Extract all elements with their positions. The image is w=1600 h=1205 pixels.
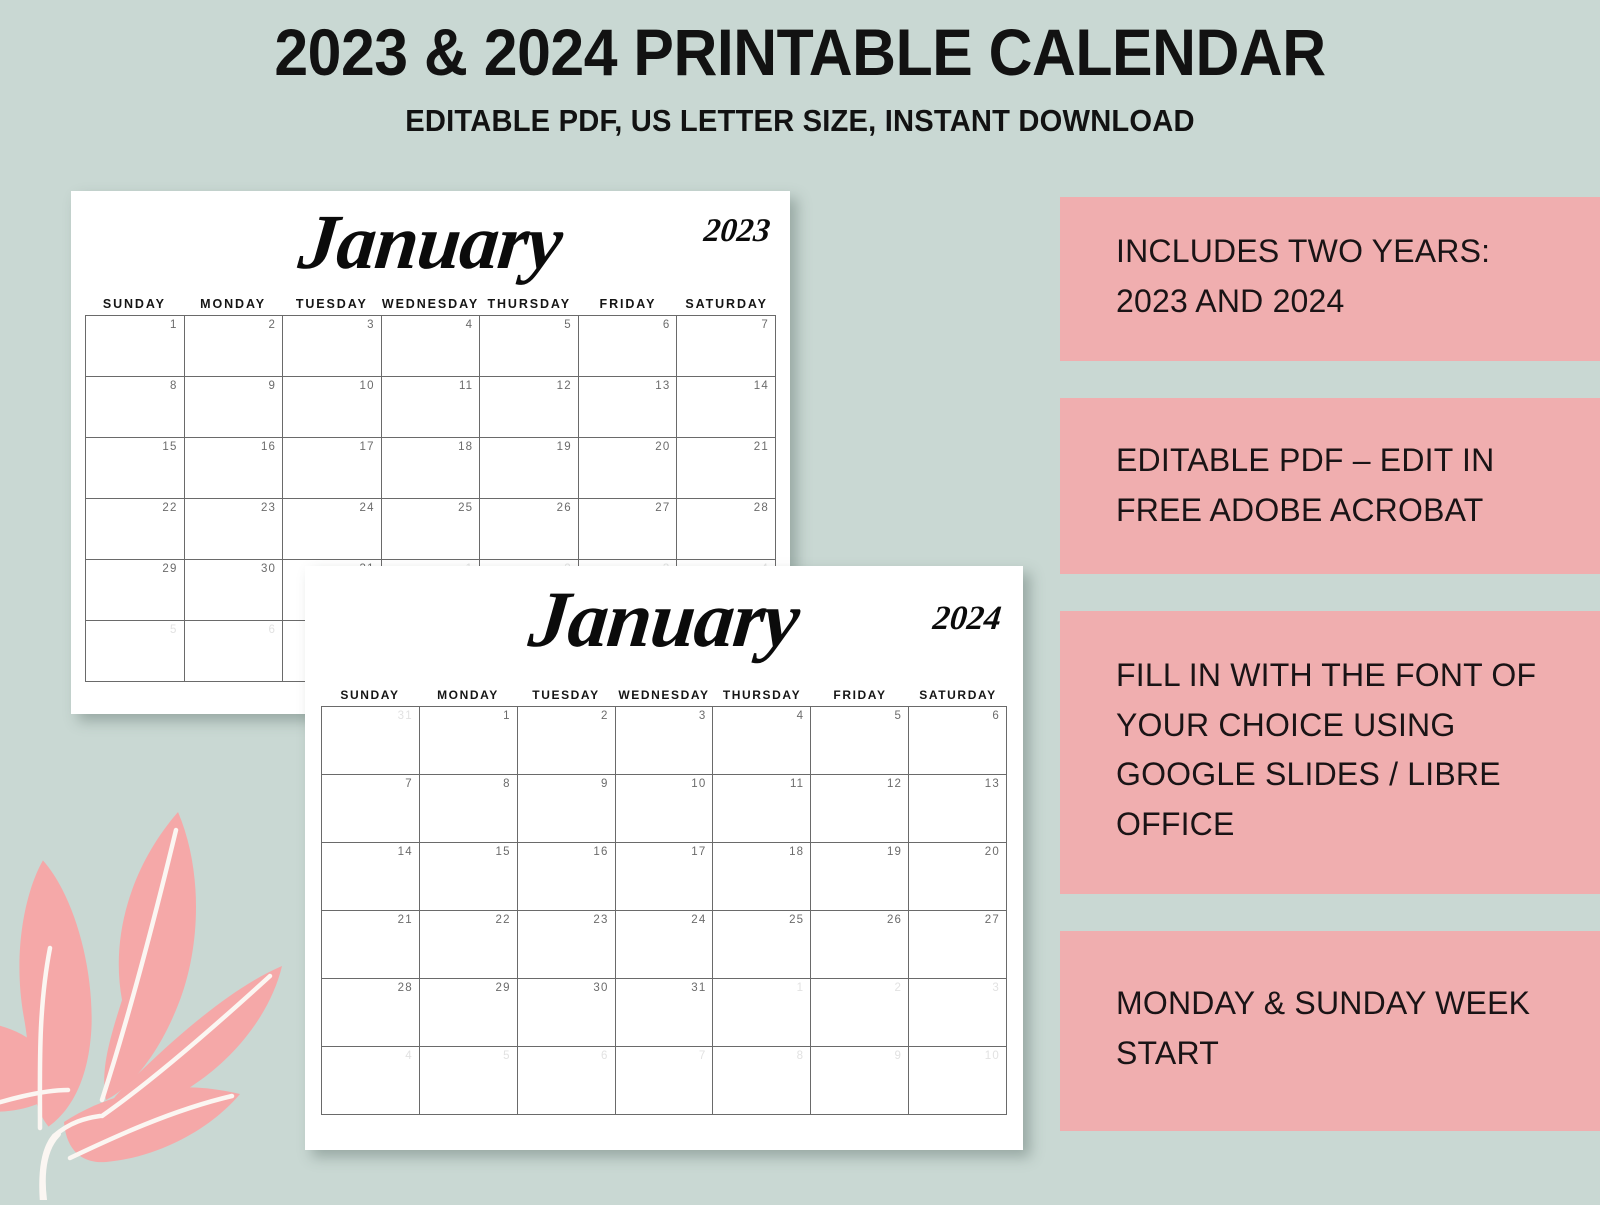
day-number: 7 — [405, 778, 413, 790]
day-number: 2 — [601, 710, 609, 722]
day-number: 3 — [367, 319, 375, 331]
day-number: 18 — [458, 441, 473, 453]
day-number: 9 — [895, 1050, 903, 1062]
calendar-day-cell[interactable]: 13 — [909, 775, 1007, 843]
day-number: 9 — [601, 778, 609, 790]
calendar-day-cell[interactable]: 5 — [480, 316, 579, 377]
calendar-day-cell[interactable]: 14 — [677, 377, 776, 438]
day-number: 13 — [655, 380, 670, 392]
calendar-day-cell[interactable]: 12 — [811, 775, 909, 843]
calendar-day-cell[interactable]: 15 — [86, 438, 185, 499]
feature-text: EDITABLE PDF – EDIT IN FREE ADOBE ACROBA… — [1116, 436, 1544, 536]
calendar-day-cell[interactable]: 8 — [420, 775, 518, 843]
day-number: 5 — [503, 1050, 511, 1062]
day-number: 5 — [564, 319, 572, 331]
day-number: 19 — [557, 441, 572, 453]
page-subtitle: EDITABLE PDF, US LETTER SIZE, INSTANT DO… — [48, 89, 1552, 139]
calendar-day-cell[interactable]: 26 — [480, 499, 579, 560]
calendar-day-cell[interactable]: 31 — [616, 979, 714, 1047]
calendar-day-cell[interactable]: 29 — [420, 979, 518, 1047]
day-number: 5 — [895, 710, 903, 722]
calendar-day-cell[interactable]: 23 — [518, 911, 616, 979]
weekday-header: THURSDAY — [480, 297, 579, 311]
feature-text: FILL IN WITH THE FONT OF YOUR CHOICE USI… — [1116, 651, 1544, 851]
calendar-day-cell[interactable]: 1 — [713, 979, 811, 1047]
day-number: 11 — [459, 380, 473, 392]
day-number: 10 — [985, 1050, 1000, 1062]
day-number: 16 — [593, 846, 608, 858]
day-number: 26 — [887, 914, 902, 926]
day-number: 15 — [496, 846, 511, 858]
day-number: 11 — [790, 778, 804, 790]
calendar-day-cell[interactable]: 18 — [713, 843, 811, 911]
day-number: 2 — [269, 319, 277, 331]
calendar-day-cell[interactable]: 25 — [382, 499, 481, 560]
calendar-month-label: January — [317, 580, 1011, 660]
day-number: 9 — [269, 380, 277, 392]
calendar-day-cell[interactable]: 18 — [382, 438, 481, 499]
calendar-day-cell[interactable]: 2 — [185, 316, 284, 377]
weekday-header-row: SUNDAYMONDAYTUESDAYWEDNESDAYTHURSDAYFRID… — [321, 688, 1007, 706]
calendar-day-cell[interactable]: 9 — [811, 1047, 909, 1115]
day-number: 8 — [503, 778, 511, 790]
page-title: 2023 & 2024 PRINTABLE CALENDAR — [64, 0, 1536, 89]
calendar-day-cell[interactable]: 28 — [677, 499, 776, 560]
calendar-grid: 3112345678910111213141516171819202122232… — [321, 706, 1007, 1115]
day-number: 25 — [458, 502, 473, 514]
day-number: 14 — [398, 846, 413, 858]
day-number: 6 — [663, 319, 671, 331]
calendar-header: January2023 — [85, 201, 776, 297]
weekday-header: SATURDAY — [909, 688, 1007, 702]
day-number: 3 — [992, 982, 1000, 994]
calendar-day-cell[interactable]: 19 — [811, 843, 909, 911]
day-number: 21 — [754, 441, 769, 453]
calendar-day-cell[interactable]: 20 — [909, 843, 1007, 911]
calendar-day-cell[interactable]: 3 — [909, 979, 1007, 1047]
feature-box: EDITABLE PDF – EDIT IN FREE ADOBE ACROBA… — [1060, 398, 1600, 574]
day-number: 8 — [170, 380, 178, 392]
calendar-day-cell[interactable]: 16 — [518, 843, 616, 911]
calendar-day-cell[interactable]: 19 — [480, 438, 579, 499]
day-number: 10 — [360, 380, 375, 392]
day-number: 23 — [593, 914, 608, 926]
day-number: 13 — [985, 778, 1000, 790]
calendar-day-cell[interactable]: 13 — [579, 377, 678, 438]
weekday-header: TUESDAY — [517, 688, 615, 702]
day-number: 4 — [797, 710, 805, 722]
weekday-header: FRIDAY — [579, 297, 678, 311]
day-number: 19 — [887, 846, 902, 858]
page-header: 2023 & 2024 PRINTABLE CALENDAR EDITABLE … — [0, 0, 1600, 139]
day-number: 29 — [496, 982, 511, 994]
day-number: 30 — [261, 563, 276, 575]
day-number: 1 — [797, 982, 805, 994]
calendar-day-cell[interactable]: 8 — [713, 1047, 811, 1115]
weekday-header: SATURDAY — [677, 297, 776, 311]
calendar-day-cell[interactable]: 28 — [322, 979, 420, 1047]
calendar-day-cell[interactable]: 5 — [420, 1047, 518, 1115]
day-number: 10 — [691, 778, 706, 790]
day-number: 22 — [162, 502, 177, 514]
feature-text: INCLUDES TWO YEARS: 2023 AND 2024 — [1116, 227, 1544, 327]
day-number: 24 — [691, 914, 706, 926]
weekday-header: FRIDAY — [811, 688, 909, 702]
day-number: 26 — [557, 502, 572, 514]
day-number: 20 — [655, 441, 670, 453]
day-number: 1 — [170, 319, 178, 331]
calendar-day-cell[interactable]: 17 — [616, 843, 714, 911]
calendar-day-cell[interactable]: 14 — [322, 843, 420, 911]
calendar-day-cell[interactable]: 30 — [185, 560, 284, 621]
calendar-day-cell[interactable]: 5 — [86, 621, 185, 682]
day-number: 15 — [162, 441, 177, 453]
day-number: 25 — [789, 914, 804, 926]
calendar-day-cell[interactable]: 21 — [677, 438, 776, 499]
calendar-year-label: 2024 — [931, 600, 1003, 638]
day-number: 31 — [398, 710, 413, 722]
feature-box: MONDAY & SUNDAY WEEK START — [1060, 931, 1600, 1131]
day-number: 6 — [992, 710, 1000, 722]
day-number: 7 — [699, 1050, 707, 1062]
calendar-day-cell[interactable]: 17 — [283, 438, 382, 499]
calendar-day-cell[interactable]: 9 — [185, 377, 284, 438]
calendar-day-cell[interactable]: 1 — [420, 707, 518, 775]
day-number: 28 — [398, 982, 413, 994]
day-number: 18 — [789, 846, 804, 858]
weekday-header: TUESDAY — [282, 297, 381, 311]
day-number: 4 — [466, 319, 474, 331]
calendar-day-cell[interactable]: 2 — [518, 707, 616, 775]
weekday-header: SUNDAY — [85, 297, 184, 311]
calendar-day-cell[interactable]: 23 — [185, 499, 284, 560]
day-number: 8 — [797, 1050, 805, 1062]
calendar-day-cell[interactable]: 8 — [86, 377, 185, 438]
day-number: 22 — [496, 914, 511, 926]
day-number: 20 — [985, 846, 1000, 858]
day-number: 14 — [754, 380, 769, 392]
weekday-header: THURSDAY — [713, 688, 811, 702]
calendar-day-cell[interactable]: 3 — [616, 707, 714, 775]
calendar-day-cell[interactable]: 10 — [283, 377, 382, 438]
calendar-day-cell[interactable]: 22 — [86, 499, 185, 560]
calendar-day-cell[interactable]: 25 — [713, 911, 811, 979]
calendar-month-label: January — [81, 203, 780, 281]
day-number: 27 — [655, 502, 670, 514]
day-number: 2 — [895, 982, 903, 994]
weekday-header: WEDNESDAY — [615, 688, 713, 702]
calendar-day-cell[interactable]: 6 — [518, 1047, 616, 1115]
day-number: 12 — [557, 380, 572, 392]
weekday-header: SUNDAY — [321, 688, 419, 702]
day-number: 7 — [761, 319, 769, 331]
calendar-day-cell[interactable]: 6 — [909, 707, 1007, 775]
day-number: 16 — [261, 441, 276, 453]
day-number: 23 — [261, 502, 276, 514]
day-number: 5 — [170, 624, 178, 636]
calendar-day-cell[interactable]: 30 — [518, 979, 616, 1047]
calendar-day-cell[interactable]: 2 — [811, 979, 909, 1047]
calendar-day-cell[interactable]: 27 — [909, 911, 1007, 979]
day-number: 30 — [593, 982, 608, 994]
calendar-day-cell[interactable]: 15 — [420, 843, 518, 911]
day-number: 21 — [398, 914, 413, 926]
calendar-day-cell[interactable]: 22 — [420, 911, 518, 979]
day-number: 6 — [601, 1050, 609, 1062]
day-number: 6 — [269, 624, 277, 636]
calendar-day-cell[interactable]: 7 — [322, 775, 420, 843]
calendar-day-cell[interactable]: 7 — [616, 1047, 714, 1115]
calendar-day-cell[interactable]: 11 — [382, 377, 481, 438]
calendar-day-cell[interactable]: 12 — [480, 377, 579, 438]
day-number: 17 — [691, 846, 706, 858]
calendar-day-cell[interactable]: 20 — [579, 438, 678, 499]
calendar-day-cell[interactable]: 11 — [713, 775, 811, 843]
weekday-header: MONDAY — [184, 297, 283, 311]
calendar-day-cell[interactable]: 10 — [909, 1047, 1007, 1115]
calendar-year-label: 2023 — [702, 213, 772, 250]
day-number: 27 — [985, 914, 1000, 926]
day-number: 4 — [405, 1050, 413, 1062]
day-number: 31 — [691, 982, 706, 994]
leaf-branch-icon — [0, 770, 312, 1200]
calendar-day-cell[interactable]: 29 — [86, 560, 185, 621]
calendar-day-cell[interactable]: 7 — [677, 316, 776, 377]
calendar-day-cell[interactable]: 24 — [283, 499, 382, 560]
weekday-header: WEDNESDAY — [381, 297, 480, 311]
calendar-day-cell[interactable]: 31 — [322, 707, 420, 775]
calendar-day-cell[interactable]: 21 — [322, 911, 420, 979]
calendar-day-cell[interactable]: 27 — [579, 499, 678, 560]
calendar-day-cell[interactable]: 6 — [185, 621, 284, 682]
calendar-day-cell[interactable]: 26 — [811, 911, 909, 979]
day-number: 12 — [887, 778, 902, 790]
day-number: 3 — [699, 710, 707, 722]
day-number: 17 — [360, 441, 375, 453]
feature-list: INCLUDES TWO YEARS: 2023 AND 2024 EDITAB… — [1060, 197, 1600, 1131]
day-number: 29 — [162, 563, 177, 575]
calendar-day-cell[interactable]: 4 — [713, 707, 811, 775]
calendar-day-cell[interactable]: 16 — [185, 438, 284, 499]
calendar-day-cell[interactable]: 5 — [811, 707, 909, 775]
calendar-day-cell[interactable]: 6 — [579, 316, 678, 377]
day-number: 28 — [754, 502, 769, 514]
calendar-day-cell[interactable]: 3 — [283, 316, 382, 377]
calendar-day-cell[interactable]: 4 — [322, 1047, 420, 1115]
calendar-day-cell[interactable]: 4 — [382, 316, 481, 377]
calendar-day-cell[interactable]: 10 — [616, 775, 714, 843]
calendar-day-cell[interactable]: 1 — [86, 316, 185, 377]
calendar-header: January2024 — [321, 578, 1007, 688]
weekday-header: MONDAY — [419, 688, 517, 702]
feature-text: MONDAY & SUNDAY WEEK START — [1116, 979, 1544, 1079]
calendar-page: January2024SUNDAYMONDAYTUESDAYWEDNESDAYT… — [305, 566, 1023, 1150]
calendar-day-cell[interactable]: 24 — [616, 911, 714, 979]
feature-box: FILL IN WITH THE FONT OF YOUR CHOICE USI… — [1060, 611, 1600, 895]
calendar-day-cell[interactable]: 9 — [518, 775, 616, 843]
feature-box: INCLUDES TWO YEARS: 2023 AND 2024 — [1060, 197, 1600, 361]
weekday-header-row: SUNDAYMONDAYTUESDAYWEDNESDAYTHURSDAYFRID… — [85, 297, 776, 315]
day-number: 24 — [360, 502, 375, 514]
day-number: 1 — [503, 710, 511, 722]
